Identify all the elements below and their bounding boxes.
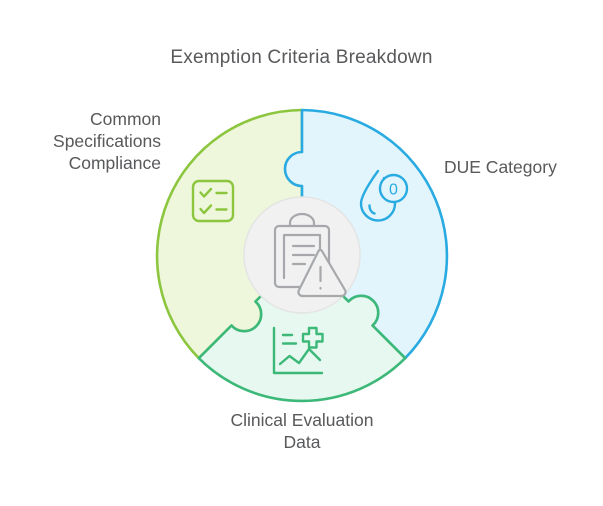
center-hub[interactable]: [244, 197, 360, 313]
water-drop-value: 0: [389, 182, 398, 199]
puzzle-donut-diagram: 0: [0, 0, 603, 506]
